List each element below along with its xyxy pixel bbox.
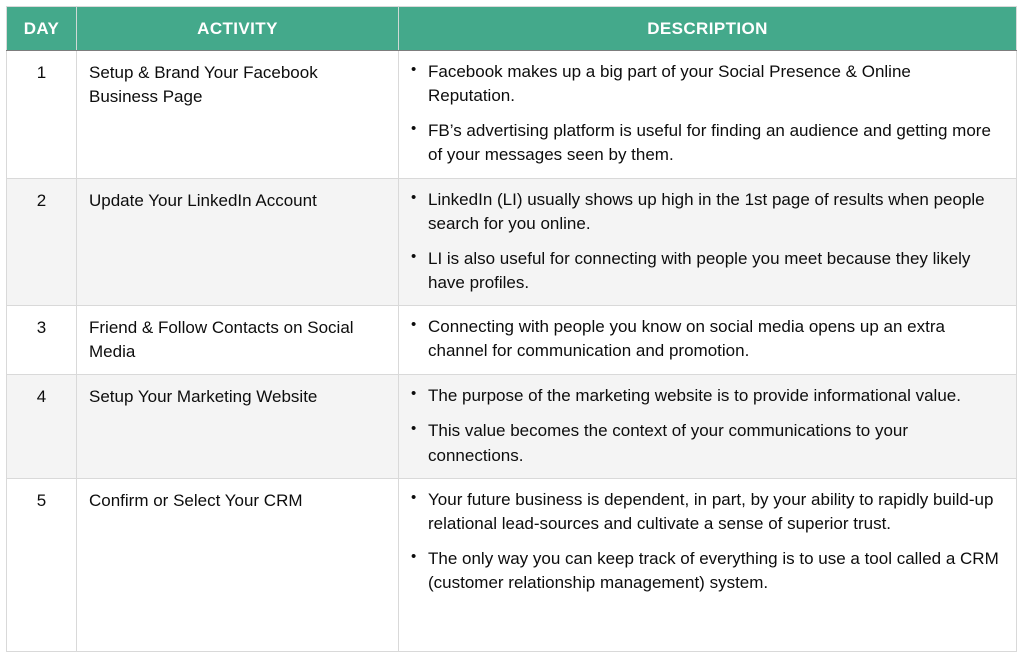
cell-activity: Friend & Follow Contacts on Social Media xyxy=(77,306,399,375)
cell-day: 1 xyxy=(7,51,77,179)
list-item: Your future business is dependent, in pa… xyxy=(409,488,1000,536)
list-item: The only way you can keep track of every… xyxy=(409,547,1000,595)
list-item: LinkedIn (LI) usually shows up high in t… xyxy=(409,188,1000,236)
table-row: 2 Update Your LinkedIn Account LinkedIn … xyxy=(7,178,1017,306)
cell-day: 3 xyxy=(7,306,77,375)
cell-description: Your future business is dependent, in pa… xyxy=(399,478,1017,651)
description-bullet-list: LinkedIn (LI) usually shows up high in t… xyxy=(409,188,1000,296)
column-header-description: DESCRIPTION xyxy=(399,7,1017,51)
table-body: 1 Setup & Brand Your Facebook Business P… xyxy=(7,51,1017,652)
cell-activity: Confirm or Select Your CRM xyxy=(77,478,399,651)
cell-description: Connecting with people you know on socia… xyxy=(399,306,1017,375)
column-header-day: DAY xyxy=(7,7,77,51)
activity-schedule-table: DAY ACTIVITY DESCRIPTION 1 Setup & Brand… xyxy=(6,6,1017,652)
cell-activity: Setup Your Marketing Website xyxy=(77,375,399,478)
description-bullet-list: Facebook makes up a big part of your Soc… xyxy=(409,60,1000,168)
list-item: The purpose of the marketing website is … xyxy=(409,384,1000,408)
list-item: Facebook makes up a big part of your Soc… xyxy=(409,60,1000,108)
page-container: DAY ACTIVITY DESCRIPTION 1 Setup & Brand… xyxy=(0,0,1024,658)
cell-day: 4 xyxy=(7,375,77,478)
table-row: 1 Setup & Brand Your Facebook Business P… xyxy=(7,51,1017,179)
list-item: Connecting with people you know on socia… xyxy=(409,315,1000,363)
list-item: FB’s advertising platform is useful for … xyxy=(409,119,1000,167)
description-bullet-list: Your future business is dependent, in pa… xyxy=(409,488,1000,596)
table-header: DAY ACTIVITY DESCRIPTION xyxy=(7,7,1017,51)
cell-description: Facebook makes up a big part of your Soc… xyxy=(399,51,1017,179)
description-bullet-list: Connecting with people you know on socia… xyxy=(409,315,1000,363)
list-item: This value becomes the context of your c… xyxy=(409,419,1000,467)
table-row: 4 Setup Your Marketing Website The purpo… xyxy=(7,375,1017,478)
table-header-row: DAY ACTIVITY DESCRIPTION xyxy=(7,7,1017,51)
description-bullet-list: The purpose of the marketing website is … xyxy=(409,384,1000,467)
cell-day: 5 xyxy=(7,478,77,651)
column-header-activity: ACTIVITY xyxy=(77,7,399,51)
cell-day: 2 xyxy=(7,178,77,306)
cell-activity: Setup & Brand Your Facebook Business Pag… xyxy=(77,51,399,179)
cell-description: The purpose of the marketing website is … xyxy=(399,375,1017,478)
table-row: 3 Friend & Follow Contacts on Social Med… xyxy=(7,306,1017,375)
cell-description: LinkedIn (LI) usually shows up high in t… xyxy=(399,178,1017,306)
cell-activity: Update Your LinkedIn Account xyxy=(77,178,399,306)
list-item: LI is also useful for connecting with pe… xyxy=(409,247,1000,295)
table-row: 5 Confirm or Select Your CRM Your future… xyxy=(7,478,1017,651)
